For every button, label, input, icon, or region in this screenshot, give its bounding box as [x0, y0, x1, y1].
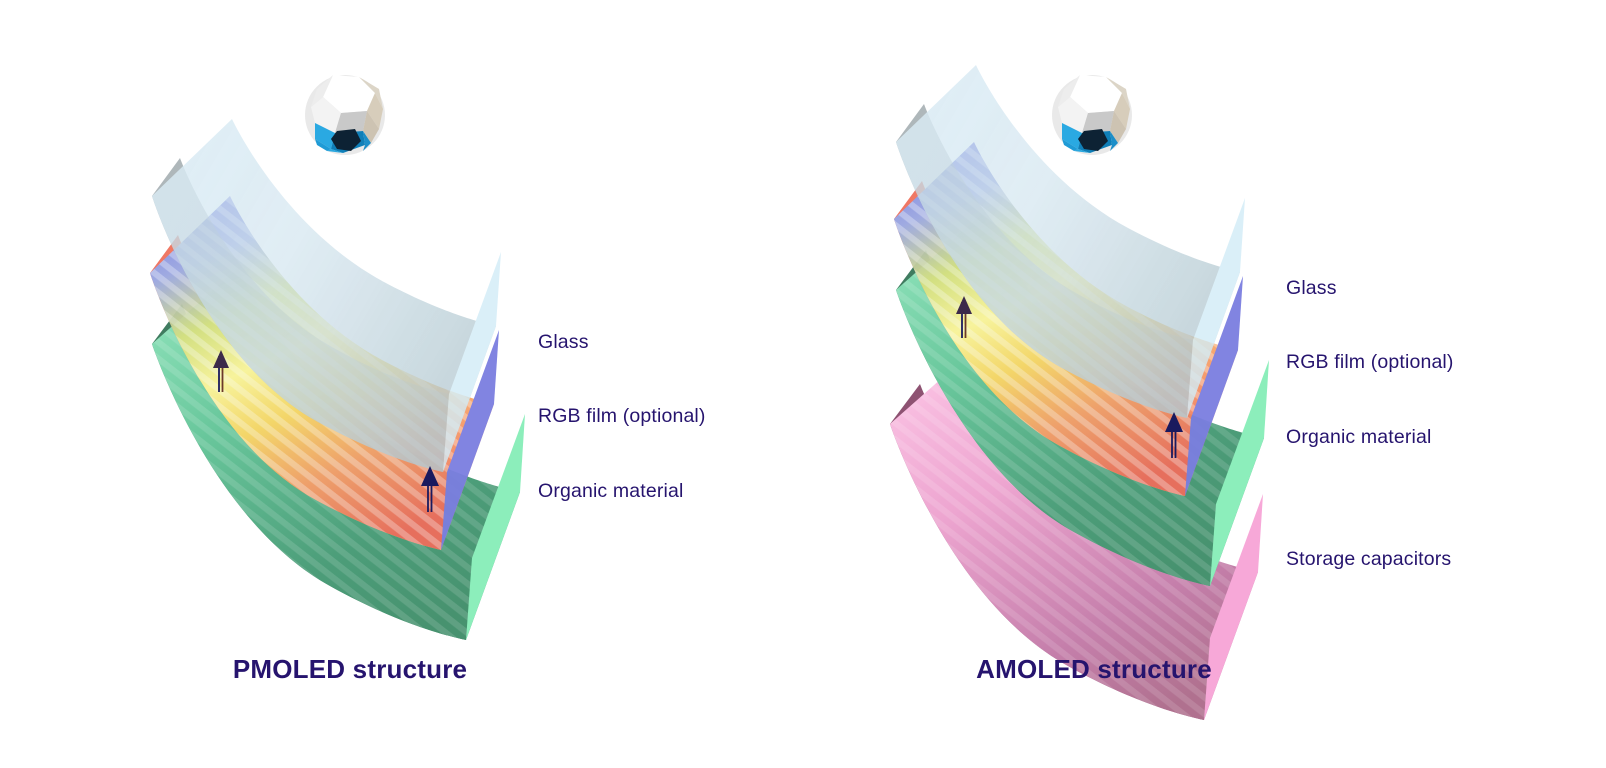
label-storage-capacitors: Storage capacitors: [1286, 550, 1451, 570]
label-organic-material: Organic material: [1286, 428, 1431, 448]
label-rgb-film: RGB film (optional): [1286, 353, 1454, 373]
panel-amoled: Glass RGB film (optional) Organic materi…: [0, 0, 1606, 768]
label-glass: Glass: [1286, 279, 1337, 299]
amoled-artwork: [0, 0, 1606, 768]
low-poly-sphere-icon: [1052, 75, 1132, 155]
diagram-canvas: Glass RGB film (optional) Organic materi…: [0, 0, 1606, 768]
amoled-structure-title: AMOLED structure: [894, 656, 1294, 682]
